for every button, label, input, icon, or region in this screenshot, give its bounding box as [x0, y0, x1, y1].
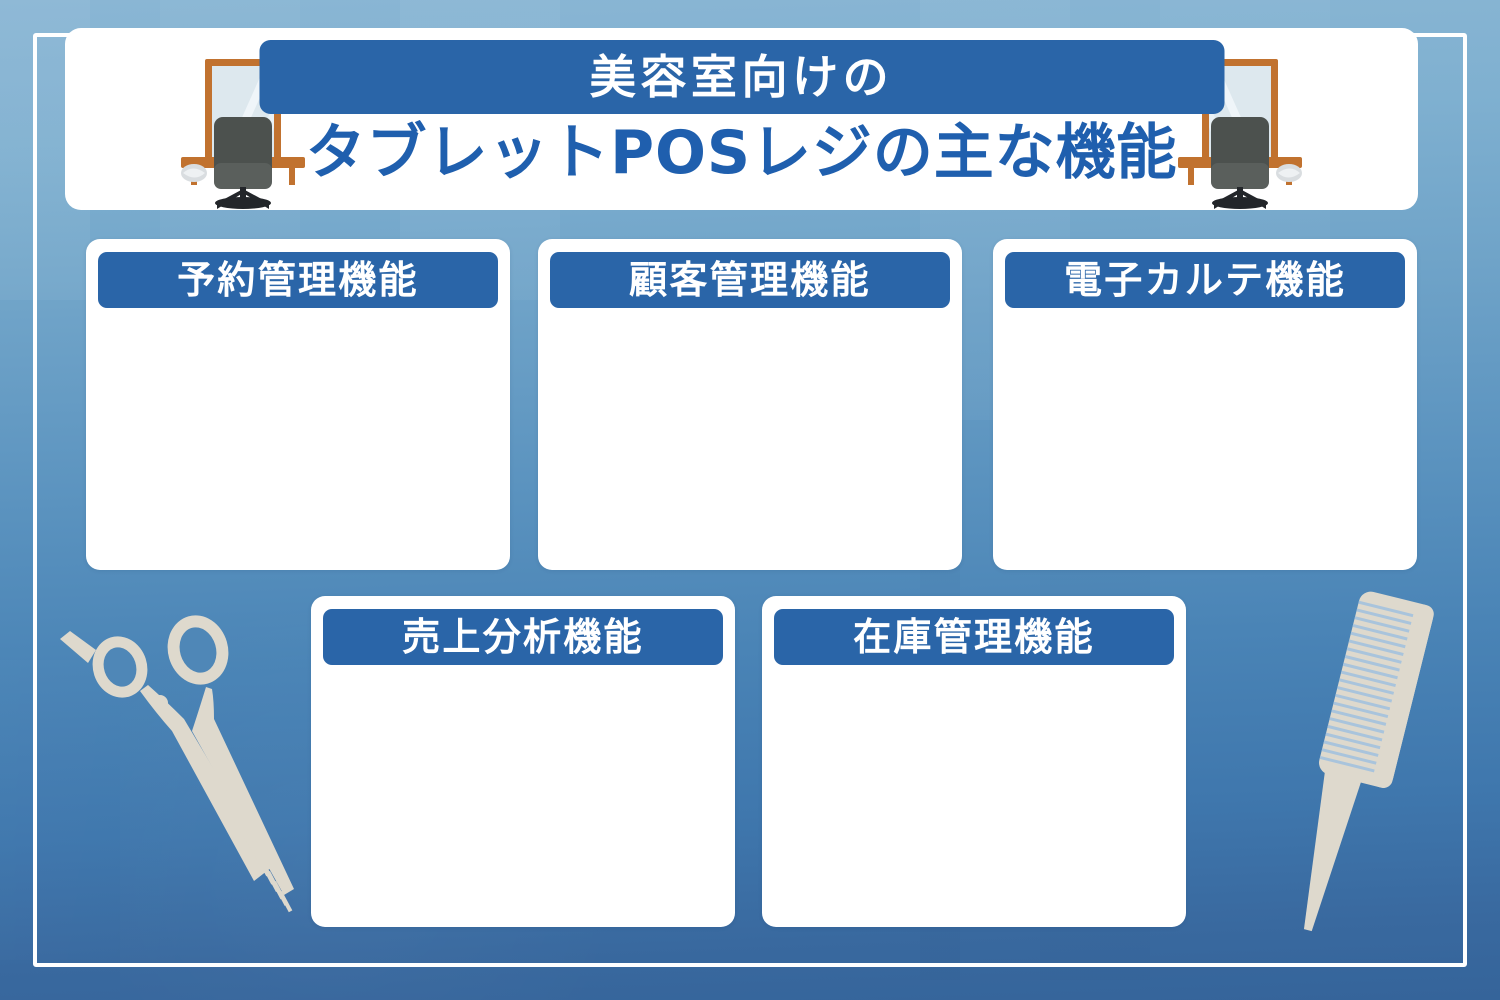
feature-card-label-text: 在庫管理機能 — [853, 618, 1095, 656]
header-eyebrow-text: 美容室向けの — [590, 54, 894, 100]
header-panel: 美容室向けの タブレットPOSレジの主な機能 — [65, 28, 1418, 210]
feature-card-chart[interactable]: 電子カルテ機能 — [993, 239, 1417, 570]
feature-card-label-text: 売上分析機能 — [402, 618, 644, 656]
feature-card-label-bar: 電子カルテ機能 — [1005, 252, 1405, 308]
feature-card-customer[interactable]: 顧客管理機能 — [538, 239, 962, 570]
poster-root: 美容室向けの タブレットPOSレジの主な機能 予約管理機能 顧客管理機能 — [0, 0, 1500, 1000]
feature-card-label-bar: 顧客管理機能 — [550, 252, 950, 308]
feature-card-label-text: 顧客管理機能 — [629, 261, 871, 299]
feature-card-label-bar: 在庫管理機能 — [774, 609, 1174, 665]
header-eyebrow-band: 美容室向けの — [259, 40, 1224, 114]
feature-card-label-bar: 予約管理機能 — [98, 252, 498, 308]
feature-card-sales[interactable]: 売上分析機能 +234 +22% +2,345 — [311, 596, 735, 927]
thinning-scissors-icon — [48, 595, 318, 945]
feature-card-stock[interactable]: 在庫管理機能 — [762, 596, 1186, 927]
page-title: タブレットPOSレジの主な機能 — [65, 120, 1418, 187]
feature-card-label-bar: 売上分析機能 — [323, 609, 723, 665]
feature-card-label-text: 電子カルテ機能 — [1064, 261, 1346, 299]
tail-comb-icon — [1256, 585, 1456, 955]
feature-card-reservation[interactable]: 予約管理機能 — [86, 239, 510, 570]
feature-card-label-text: 予約管理機能 — [177, 261, 419, 299]
